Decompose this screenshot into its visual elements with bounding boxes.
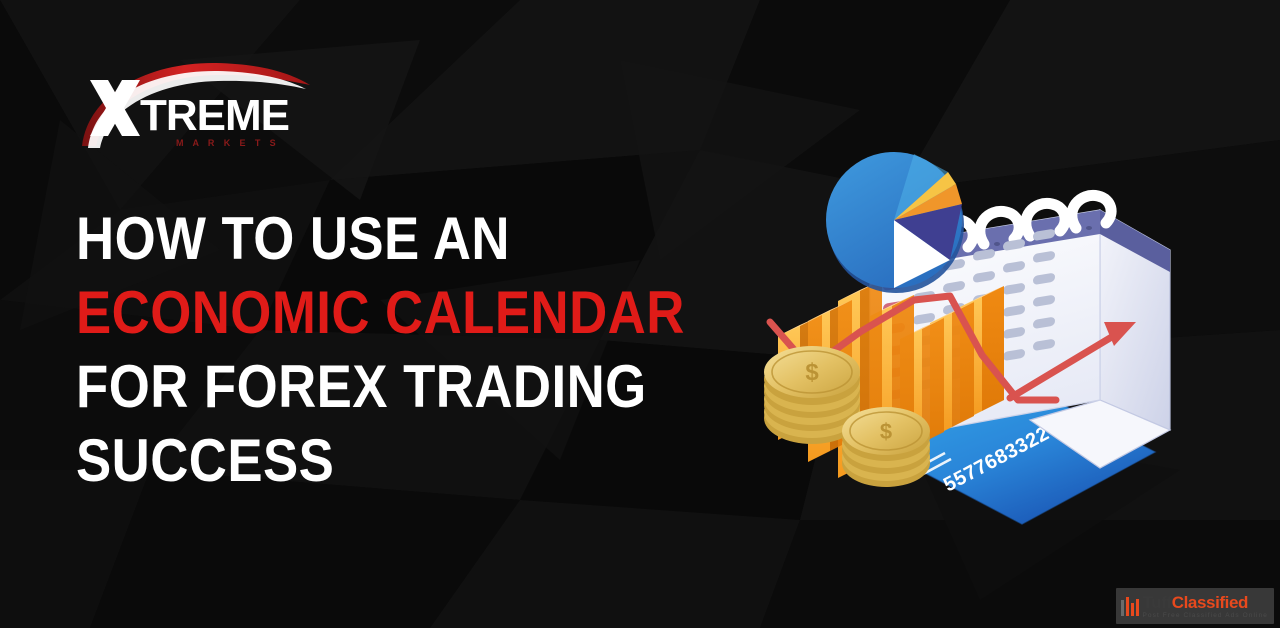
logo-svg: TREME M A R K E T S	[78, 58, 318, 150]
headline-line-2: ECONOMIC CALENDAR	[76, 276, 569, 350]
logo-tagline: M A R K E T S	[176, 138, 279, 148]
headline-line-4: SUCCESS	[76, 424, 569, 498]
logo-letter-x	[90, 80, 140, 136]
headline: HOW TO USE AN ECONOMIC CALENDAR FOR FORE…	[76, 202, 636, 498]
coin-symbol-2: $	[880, 419, 892, 444]
watermark-tagline: Post Free Classified Ads Online	[1142, 613, 1268, 620]
watermark-brand-part1: Tuff	[1142, 593, 1171, 612]
coin-stack-front: $	[842, 407, 930, 487]
coin-symbol: $	[805, 359, 819, 386]
finance-illustration: 557768332277	[700, 100, 1220, 550]
brand-logo[interactable]: TREME M A R K E T S	[78, 58, 318, 150]
watermark-text: TuffClassified Post Free Classified Ads …	[1142, 594, 1268, 620]
watermark-brand-part2: Classified	[1172, 593, 1248, 612]
pie-chart	[826, 152, 964, 293]
watermark: TuffClassified Post Free Classified Ads …	[1116, 588, 1274, 624]
promo-banner: TREME M A R K E T S HOW TO USE AN ECONOM…	[0, 0, 1280, 628]
logo-wordmark: TREME	[140, 91, 289, 140]
illustration-svg: 557768332277	[700, 100, 1220, 550]
headline-line-1: HOW TO USE AN	[76, 202, 569, 276]
headline-line-3: FOR FOREX TRADING	[76, 350, 569, 424]
bars-icon	[1121, 597, 1139, 616]
watermark-brand: TuffClassified	[1142, 593, 1248, 612]
